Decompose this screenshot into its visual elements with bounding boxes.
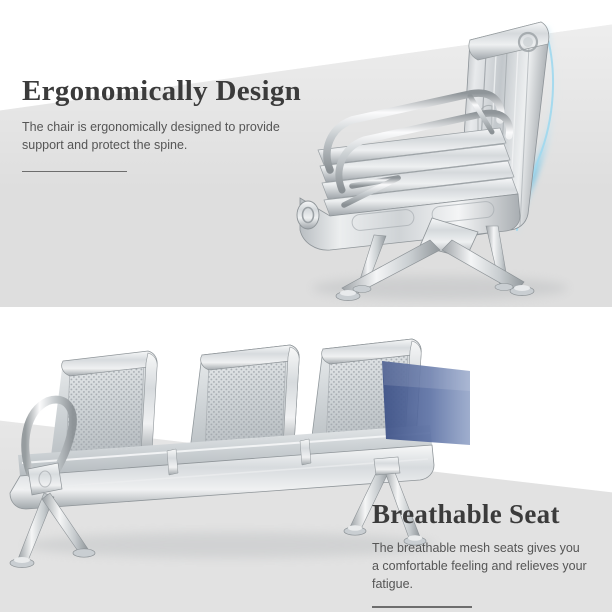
panel-ergonomic-design: Ergonomically Design The chair is ergono… (0, 0, 612, 307)
chair-foot (495, 284, 513, 291)
panel-breathable-seat: Breathable Seat The breathable mesh seat… (0, 313, 612, 612)
body-copy-ergonomic: The chair is ergonomically designed to p… (22, 119, 294, 155)
product-infographic-page: Ergonomically Design The chair is ergono… (0, 0, 612, 612)
headline-breathable: Breathable Seat (372, 498, 590, 530)
headline-ergonomic: Ergonomically Design (22, 74, 301, 108)
text-block-ergonomic: Ergonomically Design The chair is ergono… (22, 74, 301, 172)
divider-rule-top (22, 171, 127, 173)
chair-foot (353, 286, 371, 293)
divider-rule-bottom (372, 606, 472, 608)
text-block-breathable: Breathable Seat The breathable mesh seat… (372, 498, 590, 608)
body-copy-breathable: The breathable mesh seats gives you a co… (372, 540, 590, 593)
